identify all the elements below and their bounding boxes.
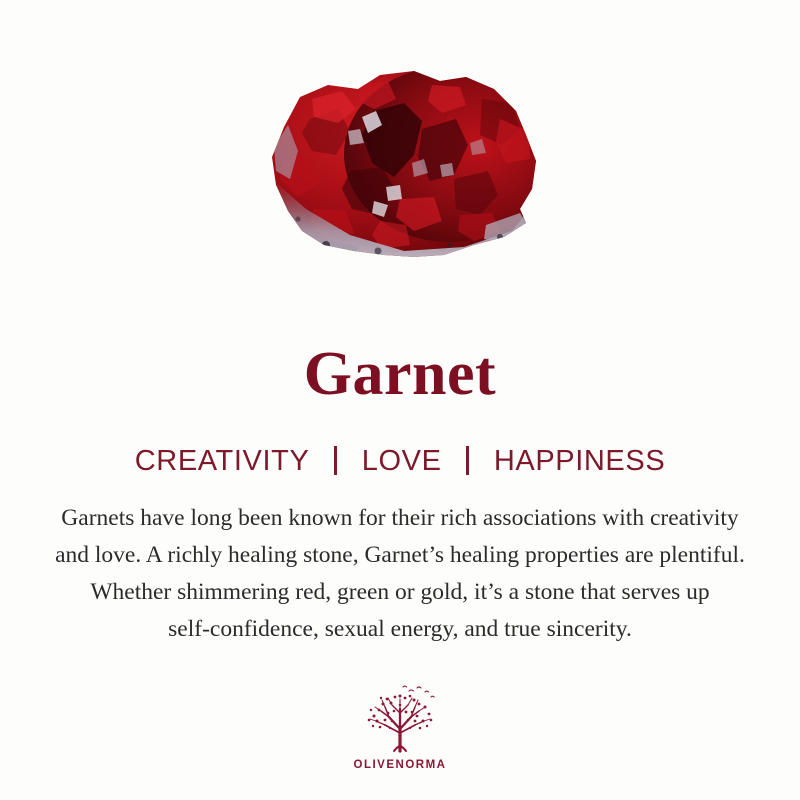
garnet-crystal-cluster-image (254, 59, 546, 266)
keyword-separator (334, 446, 337, 475)
description-line: and love. A richly healing stone, Garnet… (0, 537, 800, 574)
page-title: Garnet (0, 336, 800, 412)
keyword-creativity: CREATIVITY (135, 443, 310, 479)
description-paragraph: Garnets have long been known for their r… (0, 500, 800, 648)
tree-with-birds-icon (357, 683, 443, 755)
description-line: self-confidence, sexual energy, and true… (0, 611, 800, 648)
brand-name: OLIVENORMA (354, 759, 447, 771)
keyword-love: LOVE (362, 443, 442, 479)
keyword-line: CREATIVITY LOVE HAPPINESS (0, 443, 800, 479)
hero-image-container (0, 40, 800, 285)
keyword-separator (466, 446, 469, 475)
description-line: Whether shimmering red, green or gold, i… (0, 574, 800, 611)
keyword-happiness: HAPPINESS (494, 443, 665, 479)
brand-logo: OLIVENORMA (0, 683, 800, 771)
gemstone-info-card: Garnet CREATIVITY LOVE HAPPINESS Garnets… (0, 0, 800, 800)
description-line: Garnets have long been known for their r… (0, 500, 800, 537)
